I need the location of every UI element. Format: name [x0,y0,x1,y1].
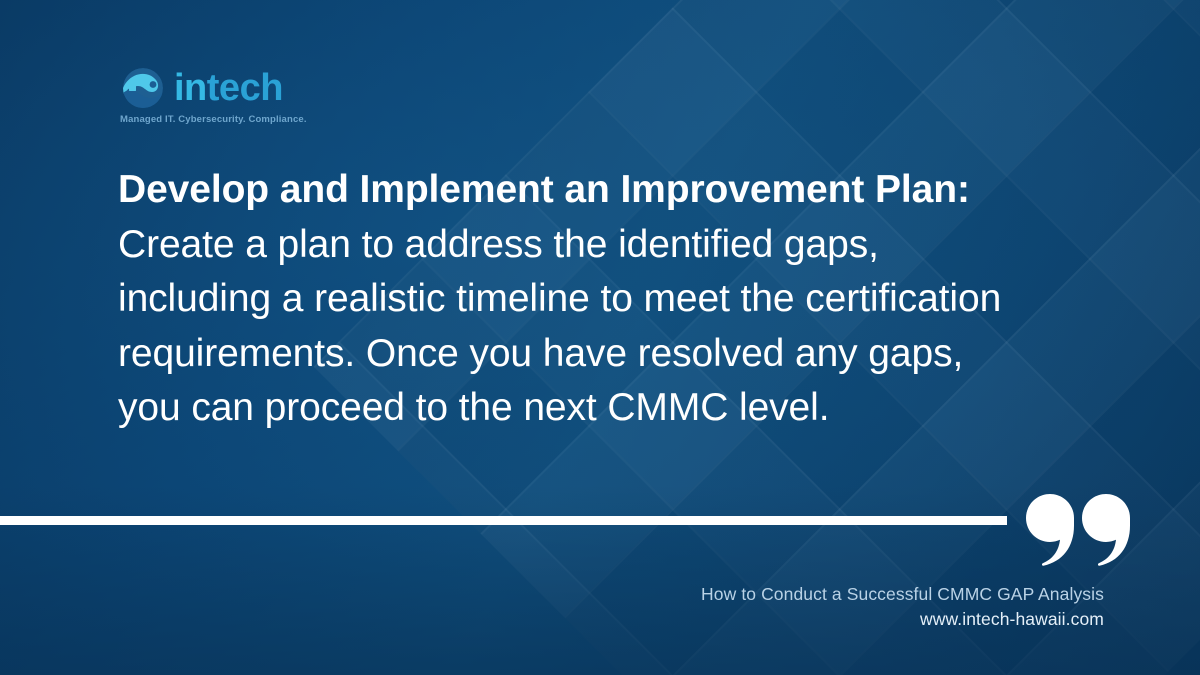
logo-row: intech [118,64,318,112]
logo-tagline: Managed IT. Cybersecurity. Compliance. [120,114,318,125]
logo-word-in: in [174,67,207,109]
footer: How to Conduct a Successful CMMC GAP Ana… [701,582,1104,632]
logo-wordmark: intech [174,69,283,107]
main-body-text: Develop and Implement an Improvement Pla… [118,163,1028,436]
body-paragraph: Create a plan to address the identified … [118,223,1001,430]
footer-website-url[interactable]: www.intech-hawaii.com [701,606,1104,632]
divider-rule [0,516,1007,525]
slide-canvas: intech Managed IT. Cybersecurity. Compli… [0,0,1200,675]
lead-heading: Develop and Implement an Improvement Pla… [118,168,957,211]
background-bottom-fade [0,485,1200,675]
footer-article-title: How to Conduct a Successful CMMC GAP Ana… [701,582,1104,606]
logo-word-tech: tech [207,67,283,109]
brand-logo: intech Managed IT. Cybersecurity. Compli… [118,64,318,130]
intech-wave-circle-icon [118,66,168,110]
closing-quotation-mark-icon [1026,494,1130,566]
lead-colon: : [957,168,970,211]
